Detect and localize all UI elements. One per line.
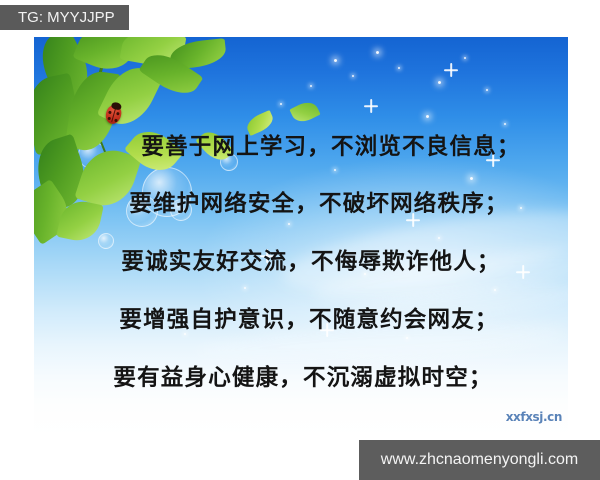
image-watermark: xxfxsj.cn [506, 410, 562, 424]
site-url-banner: www.zhcnaomenyongli.com [359, 440, 600, 480]
slogan-line-5: 要有益身心健康，不沉溺虚拟时空； [34, 360, 568, 392]
poster-image: 要善于网上学习，不浏览不良信息； 要维护网络安全，不破坏网络秩序； 要诚实友好交… [34, 37, 568, 437]
slogan-line-1: 要善于网上学习，不浏览不良信息； [34, 129, 568, 161]
slogan-line-3: 要诚实友好交流，不侮辱欺诈他人； [34, 244, 568, 276]
slogan-line-4: 要增强自护意识，不随意约会网友； [34, 302, 568, 334]
slogan-line-2: 要维护网络安全，不破坏网络秩序； [34, 186, 568, 218]
slogan-text-block: 要善于网上学习，不浏览不良信息； 要维护网络安全，不破坏网络秩序； 要诚实友好交… [34, 37, 568, 437]
telegram-handle-badge: TG: MYYJJPP [0, 5, 129, 30]
